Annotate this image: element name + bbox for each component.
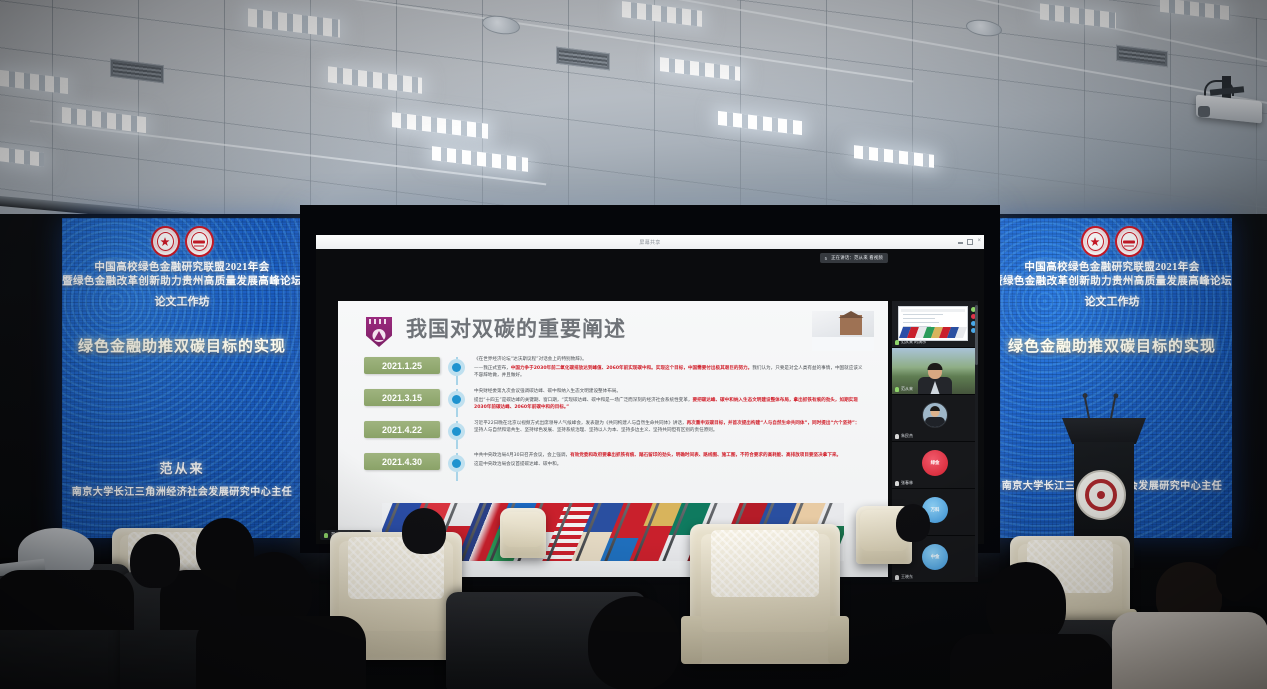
timeline-date-badge: 2021.4.22 [364, 421, 440, 438]
text-plain: 习近平22日晚在北京以视频方式出席领导人气候峰会，发表题为《共同构建人与自然生命… [474, 421, 687, 426]
projector-lens [1198, 106, 1210, 117]
timeline-entry: 2021.3.15 中央财经委第九次会议强调碳达峰、碳中和纳入生态文明建设整体布… [364, 389, 864, 417]
timeline-entry: 2021.4.22 习近平22日晚在北京以视频方式出席领导人气候峰会，发表题为《… [364, 421, 864, 449]
banner-org-line-1: 中国高校绿色金融研究联盟2021年会 [94, 261, 269, 275]
participant-name-label: 张春林 [895, 480, 913, 486]
timeline-paragraph: 中央财经委第九次会议强调碳达峰、碳中和纳入生态文明建设整体布局。 [474, 389, 864, 396]
timeline-paragraph: 中共中央政治局4月30日召开会议，会上强调，有效党委和政府要拿出抓铁有痕、踏石留… [474, 453, 864, 460]
university-seal-left [1081, 226, 1110, 257]
timeline-date-badge: 2021.1.25 [364, 357, 440, 374]
avatar [922, 402, 948, 428]
timeline-dot-icon [448, 455, 465, 472]
timeline-axis [440, 357, 474, 385]
speaking-status-label: 正在讲话：范从来 看视频 [831, 255, 883, 261]
close-icon[interactable]: × [977, 238, 981, 240]
acoustic-tile-ceiling [0, 0, 1267, 215]
mic-off-icon [895, 481, 899, 486]
audience-person-head [896, 504, 930, 542]
conference-hall-photo: 中国高校绿色金融研究联盟2021年会 暨绿色金融改革创新助力贵州高质量发展高峰论… [0, 0, 1267, 689]
timeline-axis [440, 453, 474, 481]
audience-person-head [588, 596, 680, 689]
banner-session-label: 论文工作坊 [1085, 293, 1140, 309]
participant-tile-headshot[interactable]: 朱民杰 [892, 395, 978, 442]
timeline-entry: 2021.1.25 《在世界经济论坛“达沃斯议程”对话会上的特别致辞》。 ——我… [364, 357, 864, 385]
audience-person-shoulders [0, 570, 134, 630]
timeline-paragraph: ——我正式宣布，中国力争于2030年前二氧化碳排放达到峰值、2060年前实现碳中… [474, 366, 864, 380]
seat [500, 508, 546, 558]
banner-speaker-affiliation: 南京大学长江三角洲经济社会发展研究中心主任 [72, 483, 293, 498]
audience-person-head [1216, 546, 1267, 602]
lectern-top [1062, 418, 1146, 444]
audience-person-head [130, 534, 180, 588]
screen-share-thumbnail [898, 306, 968, 341]
timeline-text: 习近平22日晚在北京以视频方式出席领导人气候峰会，发表题为《共同构建人与自然生命… [474, 421, 864, 437]
timeline-axis [440, 389, 474, 417]
timeline-text: 中共中央政治局4月30日召开会议，会上强调，有效党委和政府要拿出抓铁有痕、踏石留… [474, 453, 864, 471]
window-titlebar: 屏幕共享 × [316, 235, 984, 250]
university-seal-right [185, 226, 214, 257]
university-shield-logo [366, 317, 392, 347]
avatar: 绿金 [922, 450, 948, 476]
banner-session-label: 论文工作坊 [155, 293, 210, 309]
audience-person-head [402, 508, 446, 554]
participant-tile-camera[interactable]: 范从来 [892, 348, 978, 395]
mic-off-icon [895, 434, 899, 439]
timeline-entry: 2021.4.30 中共中央政治局4月30日召开会议，会上强调，有效党委和政府要… [364, 453, 864, 481]
window-title: 屏幕共享 [639, 239, 660, 246]
timeline-dot-icon [448, 423, 465, 440]
audience-person-cap [18, 528, 94, 576]
timeline-paragraph: 这是中央政治局会议首提碳达峰、碳中和。 [474, 462, 864, 469]
timeline-paragraph: 《在世界经济论坛“达沃斯议程”对话会上的特别致辞》。 [474, 357, 864, 364]
banner-seals [151, 226, 214, 257]
timeline-date-badge: 2021.3.15 [364, 389, 440, 406]
banner-talk-title: 绿色金融助推双碳目标的实现 [78, 335, 286, 356]
text-plain: 中共中央政治局4月30日召开会议，会上强调， [474, 453, 570, 458]
text-plain: ——我正式宣布， [474, 366, 511, 371]
participant-figure [918, 364, 952, 394]
mic-on-icon [895, 387, 899, 392]
window-controls[interactable]: × [958, 238, 981, 245]
banner-seals [1081, 226, 1144, 257]
participant-tile-avatar-red[interactable]: 绿金 张春林 [892, 442, 978, 489]
ceiling-tile-grid [0, 0, 1267, 215]
audience-seating [0, 500, 1267, 689]
timeline-paragraph: 提出“十四五”是碳达峰的关键期、窗口期，“实现碳达峰、碳中和是一场广泛而深刻的经… [474, 398, 864, 412]
slide-header: 我国对双碳的重要阐述 [338, 301, 888, 353]
audience-person-shoulders [950, 634, 1114, 689]
text-highlight: 再次重申双碳目标，并首次提出构建“人与自然生命共同体”，同时提出“六个坚持”： [687, 421, 860, 426]
participant-name-label: 范从来 的演示 [895, 339, 926, 345]
audience-person-shoulders [196, 616, 366, 689]
banner-org-line-2: 暨绿色金融改革创新助力贵州高质量发展高峰论坛 [992, 275, 1232, 289]
text-plain: 提出“十四五”是碳达峰的关键期、窗口期，“实现碳达峰、碳中和是一场广泛而深刻的经… [474, 398, 692, 403]
participant-tile-screen-share[interactable]: 范从来 的演示 [892, 301, 978, 348]
text-highlight: 中国力争于2030年前二氧化碳排放达到峰值、2060年前实现碳中和。实现这个目标… [511, 366, 752, 371]
university-seal-right [1115, 226, 1144, 257]
participant-name-label: 范从来 [895, 386, 913, 392]
timeline-text: 《在世界经济论坛“达沃斯议程”对话会上的特别致辞》。 ——我正式宣布，中国力争于… [474, 357, 864, 382]
participant-name-label: 朱民杰 [895, 433, 913, 439]
minimize-icon[interactable] [958, 242, 963, 244]
audience-person-coat [1112, 612, 1267, 689]
text-tail: 坚持人与自然和谐共生、坚持绿色发展、坚持系统治理、坚持以人为本、坚持多边主义、坚… [474, 428, 717, 433]
led-banner-left: 中国高校绿色金融研究联盟2021年会 暨绿色金融改革创新助力贵州高质量发展高峰论… [62, 218, 302, 538]
banner-org-line-2: 暨绿色金融改革创新助力贵州高质量发展高峰论坛 [62, 275, 302, 289]
speaking-status-overlay: 5 正在讲话：范从来 看视频 [820, 253, 888, 263]
mic-on-icon [895, 340, 899, 345]
banner-org-line-1: 中国高校绿色金融研究联盟2021年会 [1024, 261, 1199, 275]
slide-title: 我国对双碳的重要阐述 [406, 313, 626, 343]
timeline-axis [440, 421, 474, 449]
banner-speaker-name: 范从来 [159, 458, 204, 477]
timeline-date-badge: 2021.4.30 [364, 453, 440, 470]
banner-talk-title: 绿色金融助推双碳目标的实现 [1008, 335, 1216, 356]
timeline-text: 中央财经委第九次会议强调碳达峰、碳中和纳入生态文明建设整体布局。 提出“十四五”… [474, 389, 864, 414]
snow-hut-photo [812, 311, 874, 351]
maximize-icon[interactable] [967, 239, 973, 245]
timeline-dot-icon [448, 359, 465, 376]
timeline-dot-icon [448, 391, 465, 408]
participant-index: 5 [825, 256, 827, 261]
timeline-paragraph: 习近平22日晚在北京以视频方式出席领导人气候峰会，发表题为《共同构建人与自然生命… [474, 421, 864, 435]
slide-timeline: 2021.1.25 《在世界经济论坛“达沃斯议程”对话会上的特别致辞》。 ——我… [364, 357, 864, 485]
text-highlight: 有效党委和政府要拿出抓铁有痕、踏石留印的劲头，明确时间表、路线图、施工图，不符合… [570, 453, 841, 458]
university-seal-left [151, 226, 180, 257]
seat [690, 524, 840, 664]
